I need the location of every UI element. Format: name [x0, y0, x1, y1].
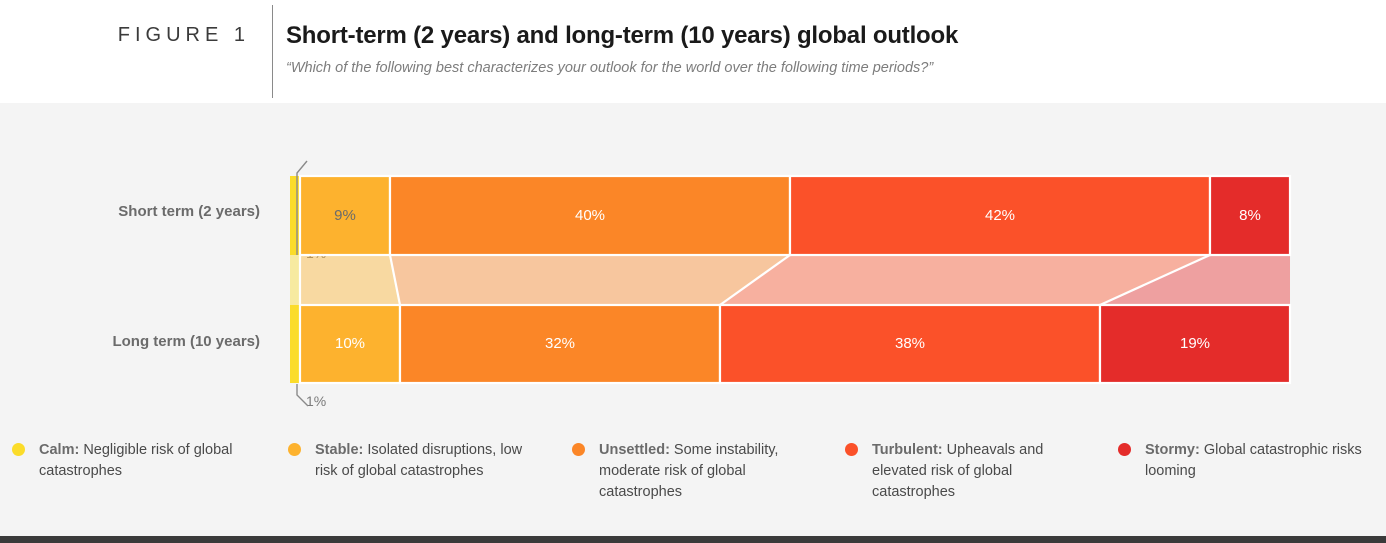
legend-item-text: Stable: Isolated disruptions, low risk o…: [315, 440, 536, 482]
legend-swatch-icon: [845, 443, 858, 456]
bar-segment-unsettled-row0[interactable]: [390, 176, 790, 255]
legend-swatch-icon: [572, 443, 585, 456]
legend-item-term: Stable:: [315, 442, 363, 458]
legend-item-unsettled[interactable]: Unsettled: Some instability, moderate ri…: [572, 440, 820, 503]
legend-item-text: Calm: Negligible risk of global catastro…: [39, 440, 260, 482]
page-title: Short-term (2 years) and long-term (10 y…: [286, 22, 958, 50]
legend-item-term: Unsettled:: [599, 442, 670, 458]
legend-item-term: Calm:: [39, 442, 79, 458]
bar-segment-stormy-row0[interactable]: [1210, 176, 1290, 255]
legend-item-stormy[interactable]: Stormy: Global catastrophic risks loomin…: [1118, 440, 1378, 482]
page-subtitle: “Which of the following best characteriz…: [286, 60, 933, 76]
header-divider: [272, 5, 273, 98]
bar-segment-unsettled-row1[interactable]: [400, 305, 720, 383]
bar-segment-calm-row1[interactable]: [290, 305, 300, 383]
legend-item-turbulent[interactable]: Turbulent: Upheavals and elevated risk o…: [845, 440, 1093, 503]
ribbon-calm: [290, 255, 300, 305]
legend-item-text: Unsettled: Some instability, moderate ri…: [599, 440, 820, 503]
chart-legend: Calm: Negligible risk of global catastro…: [0, 440, 1386, 530]
bar-segment-stormy-row1[interactable]: [1100, 305, 1290, 383]
stacked-bar-chart: Short term (2 years) Long term (10 years…: [0, 103, 1386, 423]
legend-swatch-icon: [1118, 443, 1131, 456]
legend-item-calm[interactable]: Calm: Negligible risk of global catastro…: [12, 440, 260, 482]
bar-segment-turbulent-row0[interactable]: [790, 176, 1210, 255]
leader-line-bottom: [297, 384, 308, 406]
legend-item-stable[interactable]: Stable: Isolated disruptions, low risk o…: [288, 440, 536, 482]
figure-header: FIGURE 1 Short-term (2 years) and long-t…: [0, 0, 1386, 103]
ribbon-connectors: [290, 255, 1290, 305]
legend-item-term: Turbulent:: [872, 442, 943, 458]
bar-segment-stable-row0[interactable]: [300, 176, 390, 255]
legend-swatch-icon: [288, 443, 301, 456]
chart-canvas: [0, 103, 1386, 423]
legend-swatch-icon: [12, 443, 25, 456]
bar-segment-turbulent-row1[interactable]: [720, 305, 1100, 383]
bottom-accent-strip: [0, 536, 1386, 543]
bar-segment-calm-row0[interactable]: [290, 176, 300, 255]
bar-segment-stable-row1[interactable]: [300, 305, 400, 383]
figure-number-label: FIGURE 1: [0, 24, 250, 47]
legend-item-text: Stormy: Global catastrophic risks loomin…: [1145, 440, 1378, 482]
legend-item-term: Stormy:: [1145, 442, 1200, 458]
ribbon-stable: [300, 255, 400, 305]
legend-item-text: Turbulent: Upheavals and elevated risk o…: [872, 440, 1093, 503]
